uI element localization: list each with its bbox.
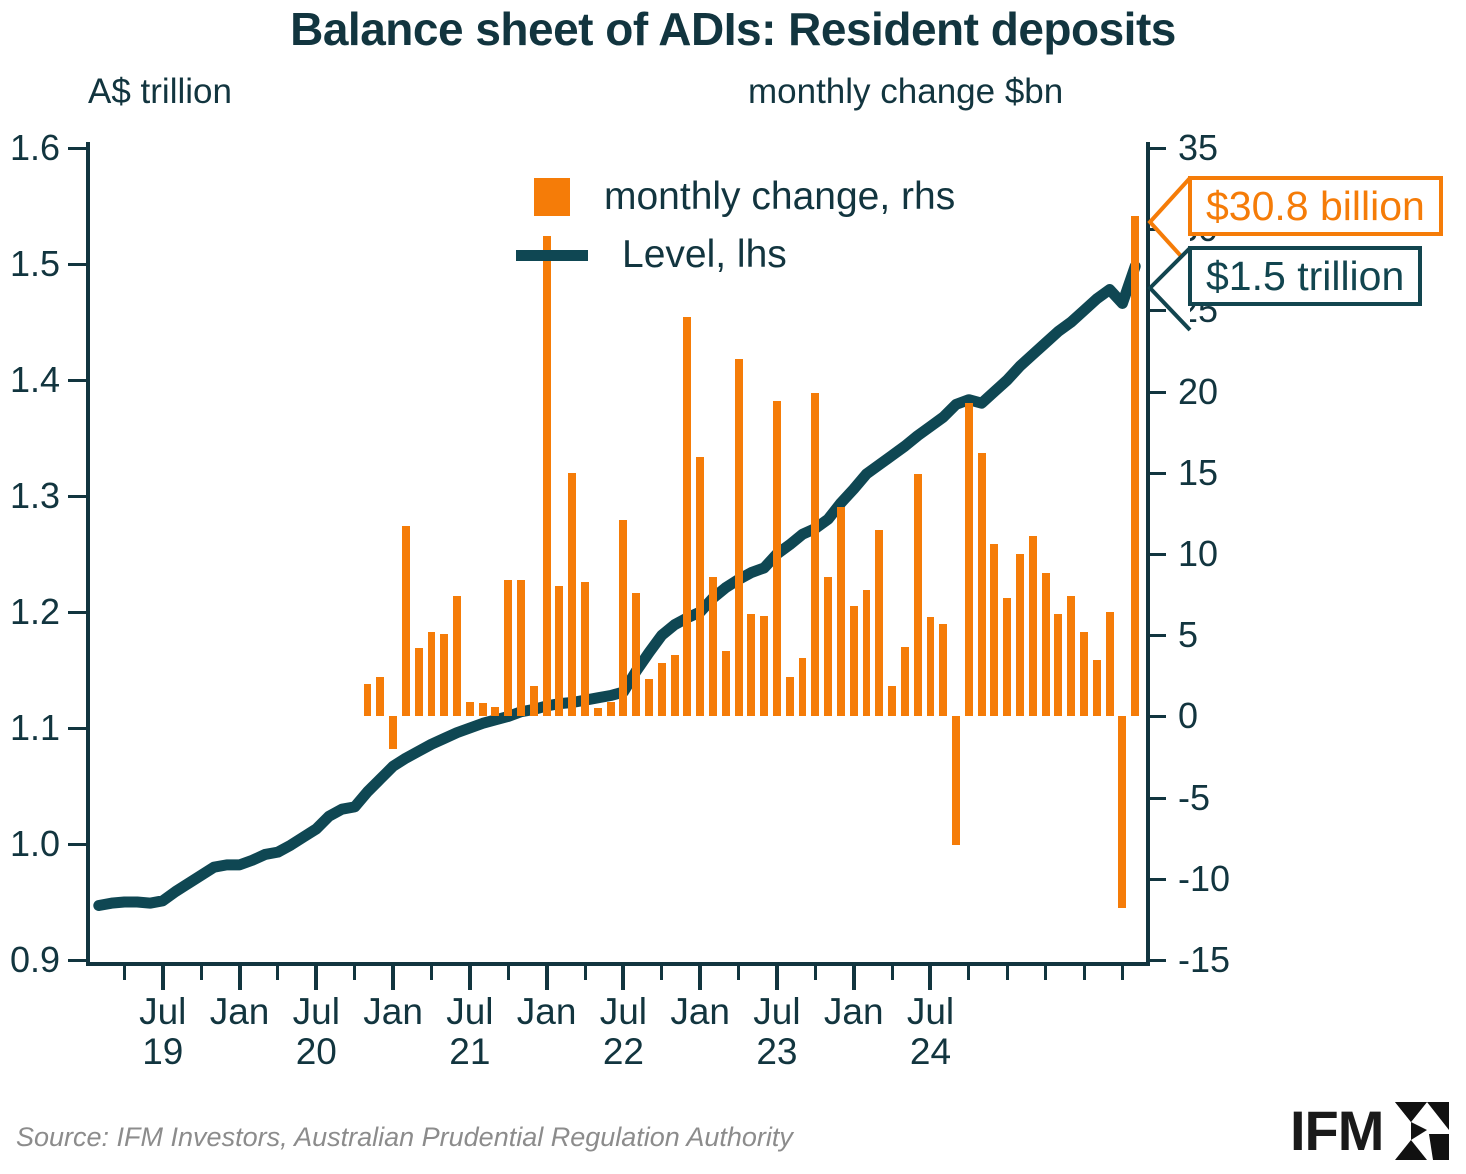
left-axis-tick-label: 1.1 <box>10 710 60 746</box>
bar <box>440 634 448 717</box>
x-axis-major-tick <box>314 964 318 990</box>
left-axis-tick-label: 1.5 <box>10 246 60 282</box>
bar <box>581 582 589 717</box>
x-axis-minor-tick <box>200 964 203 980</box>
bar <box>722 651 730 716</box>
callout-level-text: $1.5 trillion <box>1206 253 1404 300</box>
left-axis-tick-label: 1.4 <box>10 362 60 398</box>
x-axis-minor-tick <box>891 964 894 980</box>
bar <box>1016 554 1024 716</box>
bar <box>914 474 922 716</box>
x-axis-major-tick <box>928 964 932 990</box>
x-axis-tick-label: Jul19 <box>139 992 186 1072</box>
bar <box>632 593 640 716</box>
left-axis-tick <box>68 959 86 962</box>
left-axis-tick-label: 1.3 <box>10 478 60 514</box>
x-axis-minor-tick <box>660 964 663 980</box>
x-axis-major-tick <box>621 964 625 990</box>
bar <box>837 507 845 716</box>
x-axis-major-tick <box>391 964 395 990</box>
bar <box>683 317 691 717</box>
bar <box>773 401 781 716</box>
x-axis-tick-label: Jul22 <box>600 992 647 1072</box>
right-axis-tick <box>1148 797 1166 800</box>
x-axis-minor-tick <box>584 964 587 980</box>
x-axis-minor-tick <box>507 964 510 980</box>
left-axis-tick <box>68 379 86 382</box>
bar <box>1080 632 1088 716</box>
left-axis-tick <box>68 843 86 846</box>
right-axis-tick-label: 5 <box>1178 617 1198 653</box>
left-axis-tick <box>68 263 86 266</box>
source-note: Source: IFM Investors, Australian Pruden… <box>16 1122 793 1153</box>
legend-item-level: Level, lhs <box>534 226 955 284</box>
bar <box>504 580 512 716</box>
bar <box>453 596 461 716</box>
bar <box>735 359 743 716</box>
bar <box>364 684 372 716</box>
bar <box>747 614 755 716</box>
callout-monthly-change-text: $30.8 billion <box>1206 183 1425 230</box>
legend-bar-swatch-icon <box>534 178 570 216</box>
right-axis-tick-label: 35 <box>1178 130 1218 166</box>
x-axis-minor-tick <box>967 964 970 980</box>
right-axis-tick-label: -10 <box>1178 861 1230 897</box>
bar <box>965 403 973 716</box>
right-axis-tick <box>1148 309 1166 312</box>
bar <box>517 580 525 716</box>
left-axis-tick <box>68 611 86 614</box>
x-axis-tick-label: Jul24 <box>907 992 954 1072</box>
bar <box>376 677 384 716</box>
bar <box>978 453 986 716</box>
x-axis-minor-tick <box>430 964 433 980</box>
x-axis-tick-label: Jul21 <box>446 992 493 1072</box>
right-axis-tick-label: 0 <box>1178 698 1198 734</box>
bar <box>491 707 499 717</box>
right-axis-tick <box>1148 878 1166 881</box>
x-axis-minor-tick <box>276 964 279 980</box>
bar <box>619 520 627 717</box>
left-axis-unit-label: A$ trillion <box>88 72 232 112</box>
right-axis-tick <box>1148 959 1166 962</box>
bar <box>811 393 819 716</box>
callout-monthly-change: $30.8 billion <box>1188 176 1443 236</box>
bar <box>1131 216 1139 716</box>
bar <box>607 702 615 717</box>
x-axis-major-tick <box>545 964 549 990</box>
x-axis-tick-label: Jan <box>210 992 270 1032</box>
x-axis-major-tick <box>238 964 242 990</box>
x-axis-tick-label: Jan <box>363 992 423 1032</box>
bar <box>1054 614 1062 716</box>
bar <box>555 586 563 716</box>
bar <box>1029 536 1037 716</box>
legend-label-monthly-change: monthly change, rhs <box>604 175 955 219</box>
bar <box>658 663 666 717</box>
bar <box>990 544 998 716</box>
x-axis-major-tick <box>775 964 779 990</box>
x-axis-minor-tick <box>814 964 817 980</box>
right-axis-tick-label: 10 <box>1178 536 1218 572</box>
bar <box>479 703 487 716</box>
bar <box>901 647 909 717</box>
right-axis-tick-label: 20 <box>1178 374 1218 410</box>
right-axis-tick <box>1148 634 1166 637</box>
bar <box>530 686 538 717</box>
legend-item-monthly-change: monthly change, rhs <box>534 168 955 226</box>
right-axis-tick-label: 15 <box>1178 455 1218 491</box>
bar <box>927 617 935 716</box>
x-axis-major-tick <box>468 964 472 990</box>
left-axis-tick-label: 0.9 <box>10 942 60 978</box>
left-axis-tick-label: 1.2 <box>10 594 60 630</box>
logo-text: IFM <box>1290 1098 1383 1163</box>
bar <box>415 648 423 716</box>
left-axis-tick-label: 1.0 <box>10 826 60 862</box>
x-axis-minor-tick <box>353 964 356 980</box>
x-axis-minor-tick <box>1121 964 1124 980</box>
left-axis-tick-label: 1.6 <box>10 130 60 166</box>
ifm-logo: IFM <box>1290 1098 1451 1163</box>
logo-mark-icon <box>1389 1100 1451 1162</box>
left-axis-ticks: 1.61.51.41.31.21.11.00.9 <box>0 148 86 960</box>
bar <box>402 526 410 716</box>
bar <box>863 590 871 717</box>
left-axis-tick <box>68 147 86 150</box>
bar <box>1118 716 1126 908</box>
x-axis-minor-tick <box>1006 964 1009 980</box>
bar <box>888 686 896 717</box>
x-axis-tick-label: Jan <box>517 992 577 1032</box>
right-axis-tick <box>1148 391 1166 394</box>
x-axis-minor-tick <box>1044 964 1047 980</box>
bar <box>875 530 883 717</box>
bar <box>1042 573 1050 716</box>
left-axis-tick <box>68 495 86 498</box>
bar <box>1067 596 1075 716</box>
x-axis-minor-tick <box>1083 964 1086 980</box>
bar <box>645 679 653 716</box>
bar <box>671 655 679 717</box>
right-axis-tick <box>1148 715 1166 718</box>
bar <box>799 658 807 716</box>
right-axis-tick <box>1148 147 1166 150</box>
x-axis-tick-label: Jan <box>824 992 884 1032</box>
chart-legend: monthly change, rhs Level, lhs <box>534 168 955 284</box>
bar <box>696 457 704 717</box>
x-axis-tick-label: Jan <box>670 992 730 1032</box>
bar <box>428 632 436 716</box>
x-axis-minor-tick <box>737 964 740 980</box>
right-axis-tick <box>1148 228 1166 231</box>
legend-label-level: Level, lhs <box>622 233 787 277</box>
left-axis-tick <box>68 727 86 730</box>
right-axis-unit-label: monthly change $bn <box>748 72 1063 112</box>
page-title: Balance sheet of ADIs: Resident deposits <box>0 2 1466 56</box>
bar <box>568 473 576 717</box>
bar <box>824 577 832 717</box>
bar <box>389 716 397 748</box>
bar <box>466 702 474 717</box>
bar <box>709 577 717 717</box>
legend-line-swatch-icon <box>516 250 588 261</box>
x-axis-major-tick <box>161 964 165 990</box>
right-axis-tick-label: -15 <box>1178 942 1230 978</box>
x-axis-tick-label: Jul23 <box>753 992 800 1072</box>
x-axis-major-tick <box>698 964 702 990</box>
callout-level: $1.5 trillion <box>1188 246 1422 306</box>
bar <box>786 677 794 716</box>
right-axis-tick <box>1148 553 1166 556</box>
bar <box>1003 598 1011 717</box>
bar <box>939 624 947 717</box>
x-axis-minor-tick <box>123 964 126 980</box>
bar <box>760 616 768 717</box>
bar <box>1093 660 1101 717</box>
right-axis-tick-label: -5 <box>1178 780 1210 816</box>
bar <box>1106 612 1114 716</box>
bar <box>952 716 960 844</box>
x-axis-major-tick <box>852 964 856 990</box>
x-axis-tick-label: Jul20 <box>293 992 340 1072</box>
bar <box>594 708 602 716</box>
bar <box>850 606 858 716</box>
x-axis-ticks: Jul19JanJul20JanJul21JanJul22JanJul23Jan… <box>86 964 1150 1104</box>
right-axis-tick <box>1148 472 1166 475</box>
bar <box>543 236 551 717</box>
